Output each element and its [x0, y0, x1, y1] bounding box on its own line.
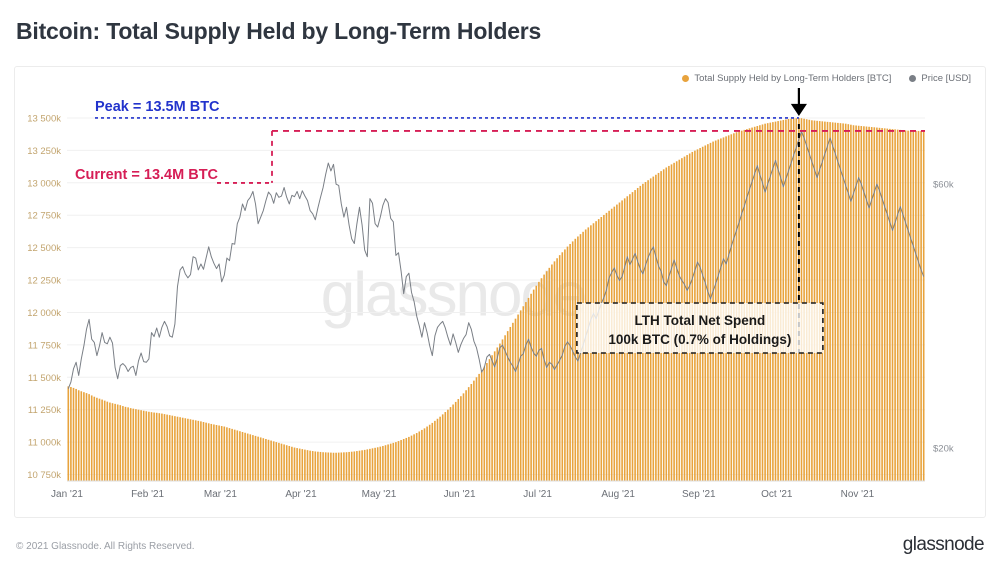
bar	[379, 447, 381, 481]
bar	[455, 402, 457, 481]
bar	[73, 388, 75, 481]
bar	[203, 422, 205, 481]
bar	[559, 255, 561, 481]
bar	[387, 444, 389, 481]
bar	[481, 370, 483, 481]
bar	[483, 367, 485, 481]
right-axis: $60k$20k	[933, 180, 954, 455]
page-title: Bitcoin: Total Supply Held by Long-Term …	[16, 18, 541, 45]
bar	[808, 120, 810, 481]
bar	[288, 446, 290, 481]
y-axis-tick-label: 12 500k	[27, 243, 61, 254]
y-axis-tick-label: 10 750k	[27, 470, 61, 481]
bar	[587, 227, 589, 481]
bar	[317, 452, 319, 481]
bar	[431, 423, 433, 481]
bar	[70, 387, 72, 481]
bar	[80, 391, 82, 481]
bar	[299, 449, 301, 481]
bar	[915, 131, 917, 481]
x-axis-tick-label: May '21	[362, 489, 397, 500]
bar	[801, 118, 803, 481]
bar	[473, 381, 475, 481]
x-axis-tick-label: Sep '21	[682, 489, 716, 500]
bar	[101, 400, 103, 481]
bar	[863, 126, 865, 481]
bar	[283, 444, 285, 481]
bar	[353, 451, 355, 481]
bar	[525, 302, 527, 481]
bar	[450, 407, 452, 481]
bar	[398, 441, 400, 481]
bar	[226, 427, 228, 481]
bar	[871, 127, 873, 481]
bar	[439, 417, 441, 481]
bar	[109, 403, 111, 481]
bar	[340, 452, 342, 481]
bar	[184, 418, 186, 481]
bar	[130, 408, 132, 481]
x-axis-tick-label: Mar '21	[204, 489, 237, 500]
svg-text:glassnode: glassnode	[321, 261, 586, 330]
bar	[88, 394, 90, 481]
bar	[834, 123, 836, 481]
bar	[372, 448, 374, 481]
bar	[411, 436, 413, 481]
bar	[275, 442, 277, 481]
bar	[457, 399, 459, 481]
bar	[348, 452, 350, 481]
bar	[535, 286, 537, 481]
bar	[569, 244, 571, 481]
bar	[442, 414, 444, 481]
bar	[366, 449, 368, 481]
callout-line-1: LTH Total Net Spend	[635, 313, 766, 328]
bar	[223, 427, 225, 481]
bar	[806, 119, 808, 481]
bar	[777, 121, 779, 481]
x-axis-tick-label: Jul '21	[523, 489, 552, 500]
bar	[210, 424, 212, 481]
bar	[145, 411, 147, 481]
bar	[873, 127, 875, 481]
bar	[520, 310, 522, 481]
bar	[421, 430, 423, 481]
bar	[855, 125, 857, 481]
bar	[309, 451, 311, 481]
bar	[291, 447, 293, 481]
bar	[837, 123, 839, 481]
bar	[793, 118, 795, 481]
bar	[541, 278, 543, 481]
bar	[886, 129, 888, 481]
bar	[499, 344, 501, 481]
bar	[117, 405, 119, 481]
bar	[278, 443, 280, 481]
bar	[582, 232, 584, 481]
bar	[515, 319, 517, 481]
bar	[346, 452, 348, 481]
bar	[408, 437, 410, 481]
bar	[424, 428, 426, 481]
bar	[530, 294, 532, 481]
bar	[75, 389, 77, 481]
bar	[476, 377, 478, 481]
bar	[894, 129, 896, 481]
bar	[561, 252, 563, 481]
bar	[125, 407, 127, 481]
bar	[892, 129, 894, 481]
bar	[148, 412, 150, 481]
x-axis-tick-label: Jan '21	[51, 489, 83, 500]
right-axis-tick-label: $60k	[933, 180, 954, 191]
bar	[169, 415, 171, 481]
footer-copyright: © 2021 Glassnode. All Rights Reserved.	[16, 541, 195, 552]
y-axis-tick-label: 11 000k	[28, 438, 61, 449]
bar	[104, 401, 106, 481]
bar	[881, 128, 883, 481]
bar	[860, 126, 862, 481]
bar	[489, 359, 491, 481]
bar	[538, 282, 540, 481]
y-axis-tick-label: 11 750k	[28, 340, 61, 351]
bar	[307, 450, 309, 481]
bar	[824, 122, 826, 481]
bar	[161, 414, 163, 481]
chart-card: Total Supply Held by Long-Term Holders […	[14, 66, 986, 518]
bar	[244, 433, 246, 481]
bar	[429, 425, 431, 481]
bar	[468, 387, 470, 481]
bar	[814, 121, 816, 481]
bar	[192, 420, 194, 481]
bar	[239, 431, 241, 481]
bar	[208, 423, 210, 481]
bar	[512, 323, 514, 481]
bar	[767, 123, 769, 481]
bar	[156, 413, 158, 481]
bar	[840, 123, 842, 481]
bar	[218, 426, 220, 481]
bar	[132, 409, 134, 481]
bar	[112, 403, 114, 481]
bar	[795, 118, 797, 481]
bar	[255, 436, 257, 481]
bar	[99, 399, 101, 481]
bar	[86, 393, 88, 481]
bar	[247, 434, 249, 481]
bar	[177, 417, 179, 481]
bar	[590, 225, 592, 481]
bar	[265, 439, 267, 481]
y-axis-tick-label: 13 500k	[27, 113, 61, 124]
bar	[426, 427, 428, 481]
bar	[543, 275, 545, 481]
bar	[491, 355, 493, 481]
bar	[314, 451, 316, 481]
bar	[572, 241, 574, 481]
bar	[364, 450, 366, 481]
y-axis-tick-label: 13 000k	[27, 178, 61, 189]
bar	[889, 129, 891, 481]
bar	[158, 413, 160, 481]
bar	[91, 395, 93, 481]
bar	[135, 409, 137, 481]
bar	[902, 130, 904, 481]
bar	[200, 421, 202, 481]
bar	[897, 130, 899, 481]
bar	[322, 452, 324, 481]
bar	[312, 451, 314, 481]
bar	[400, 440, 402, 481]
bar	[213, 424, 215, 481]
bar	[905, 130, 907, 481]
bar	[262, 438, 264, 481]
bar	[923, 131, 925, 481]
bar	[392, 443, 394, 481]
bar	[910, 131, 912, 481]
bar	[785, 120, 787, 481]
bar	[502, 339, 504, 481]
bar	[67, 386, 69, 481]
bar	[434, 421, 436, 481]
bar	[509, 327, 511, 481]
bar	[296, 448, 298, 481]
bar	[182, 418, 184, 481]
bar	[369, 449, 371, 481]
bar	[171, 416, 173, 481]
bar	[782, 120, 784, 481]
bar	[351, 452, 353, 481]
bar	[281, 444, 283, 481]
bar	[556, 258, 558, 481]
bar	[164, 414, 166, 481]
x-axis-tick-label: Apr '21	[285, 489, 317, 500]
bar	[546, 271, 548, 481]
bar	[242, 432, 244, 481]
bar	[580, 234, 582, 481]
bar	[395, 442, 397, 481]
bar	[252, 435, 254, 481]
bar	[772, 122, 774, 481]
bar	[847, 124, 849, 481]
bar	[122, 406, 124, 481]
bar	[533, 290, 535, 481]
bar	[119, 405, 121, 481]
y-axis-tick-label: 12 750k	[27, 211, 61, 222]
bar	[548, 268, 550, 481]
bar	[273, 441, 275, 481]
bar	[868, 127, 870, 481]
bar	[257, 437, 259, 481]
bar	[504, 335, 506, 481]
bar	[447, 410, 449, 481]
bar	[819, 121, 821, 481]
bar	[827, 122, 829, 481]
bar	[444, 412, 446, 481]
bar	[338, 453, 340, 481]
bar	[325, 452, 327, 481]
bar	[405, 438, 407, 481]
bar	[83, 392, 85, 481]
bar	[811, 120, 813, 481]
bar	[385, 445, 387, 481]
bar	[879, 128, 881, 481]
bar	[356, 451, 358, 481]
bar	[216, 425, 218, 481]
current-annotation-label: Current = 13.4M BTC	[75, 167, 219, 183]
bar	[470, 384, 472, 481]
bar	[413, 434, 415, 481]
x-axis-tick-label: Aug '21	[601, 489, 635, 500]
bar	[853, 125, 855, 481]
bar	[803, 119, 805, 481]
callout-line-2: 100k BTC (0.7% of Holdings)	[608, 332, 791, 347]
bar	[507, 331, 509, 481]
bar	[437, 419, 439, 481]
bar	[106, 402, 108, 481]
bar	[574, 239, 576, 481]
bar	[866, 127, 868, 481]
bar	[775, 122, 777, 481]
bar	[343, 452, 345, 481]
bar	[286, 445, 288, 481]
bar	[920, 131, 922, 481]
bar	[832, 122, 834, 481]
bar	[330, 453, 332, 481]
bar	[377, 447, 379, 481]
x-axis-tick-label: Oct '21	[761, 489, 793, 500]
bar	[478, 374, 480, 481]
bar	[234, 430, 236, 481]
bar	[845, 124, 847, 481]
bar	[333, 453, 335, 481]
bar	[151, 412, 153, 481]
y-axis-tick-label: 11 250k	[28, 405, 61, 416]
bar	[114, 404, 116, 481]
bar	[522, 306, 524, 481]
bar	[249, 434, 251, 481]
bar	[764, 124, 766, 481]
bar	[517, 315, 519, 481]
bar	[140, 410, 142, 481]
bar	[78, 390, 80, 481]
x-axis: Jan '21Feb '21Mar '21Apr '21May '21Jun '…	[51, 481, 925, 500]
bar	[884, 128, 886, 481]
bar	[127, 407, 129, 481]
x-axis-tick-label: Jun '21	[444, 489, 476, 500]
bar	[585, 229, 587, 481]
y-axis-tick-label: 11 500k	[28, 373, 61, 384]
bar	[418, 431, 420, 481]
bar	[528, 298, 530, 481]
bar	[374, 448, 376, 481]
bar	[231, 429, 233, 481]
bar	[197, 421, 199, 481]
bar	[416, 433, 418, 481]
bar	[166, 415, 168, 481]
bar	[452, 405, 454, 481]
bar	[359, 451, 361, 481]
y-axis-tick-label: 12 000k	[27, 308, 61, 319]
x-axis-tick-label: Nov '21	[841, 489, 875, 500]
bar	[174, 416, 176, 481]
bar	[138, 410, 140, 481]
bar	[762, 124, 764, 481]
bar	[205, 423, 207, 481]
down-arrow-marker-icon	[793, 88, 805, 114]
bar	[320, 452, 322, 481]
bar	[790, 119, 792, 481]
bar	[912, 131, 914, 481]
bar	[463, 393, 465, 481]
bar	[567, 247, 569, 481]
bar	[268, 440, 270, 481]
right-axis-tick-label: $20k	[933, 444, 954, 455]
bar	[876, 128, 878, 481]
y-axis-tick-label: 12 250k	[27, 276, 61, 287]
bar	[918, 131, 920, 481]
bar	[907, 131, 909, 481]
bar	[96, 398, 98, 481]
bar	[195, 420, 197, 481]
bar	[390, 444, 392, 481]
bar	[236, 430, 238, 481]
bar	[301, 449, 303, 481]
x-axis-tick-label: Feb '21	[131, 489, 164, 500]
bar	[190, 419, 192, 481]
bar	[382, 446, 384, 481]
bar	[899, 130, 901, 481]
bar	[564, 249, 566, 481]
bar	[403, 439, 405, 481]
bar	[187, 419, 189, 481]
bar	[260, 437, 262, 481]
bar	[821, 121, 823, 481]
bar	[229, 428, 231, 481]
chart-plot[interactable]: glassnode13 500k13 250k13 000k12 750k12 …	[15, 67, 985, 517]
bar	[850, 125, 852, 481]
bar	[829, 122, 831, 481]
bar	[93, 397, 95, 481]
bar	[304, 450, 306, 481]
bar	[551, 264, 553, 481]
bar	[494, 351, 496, 481]
bar	[294, 448, 296, 481]
bar	[335, 453, 337, 481]
footer-brand-logo: glassnode	[903, 534, 984, 556]
bar	[486, 363, 488, 481]
bar	[270, 441, 272, 481]
bar	[554, 261, 556, 481]
bar	[179, 417, 181, 481]
bar	[327, 452, 329, 481]
bar	[460, 396, 462, 481]
bar	[221, 426, 223, 481]
y-axis-tick-label: 13 250k	[27, 146, 61, 157]
bar	[465, 390, 467, 481]
bar	[153, 413, 155, 481]
bar	[361, 450, 363, 481]
watermark: glassnode	[321, 261, 586, 330]
bar	[496, 347, 498, 481]
bar	[143, 411, 145, 481]
peak-annotation-label: Peak = 13.5M BTC	[95, 99, 220, 115]
